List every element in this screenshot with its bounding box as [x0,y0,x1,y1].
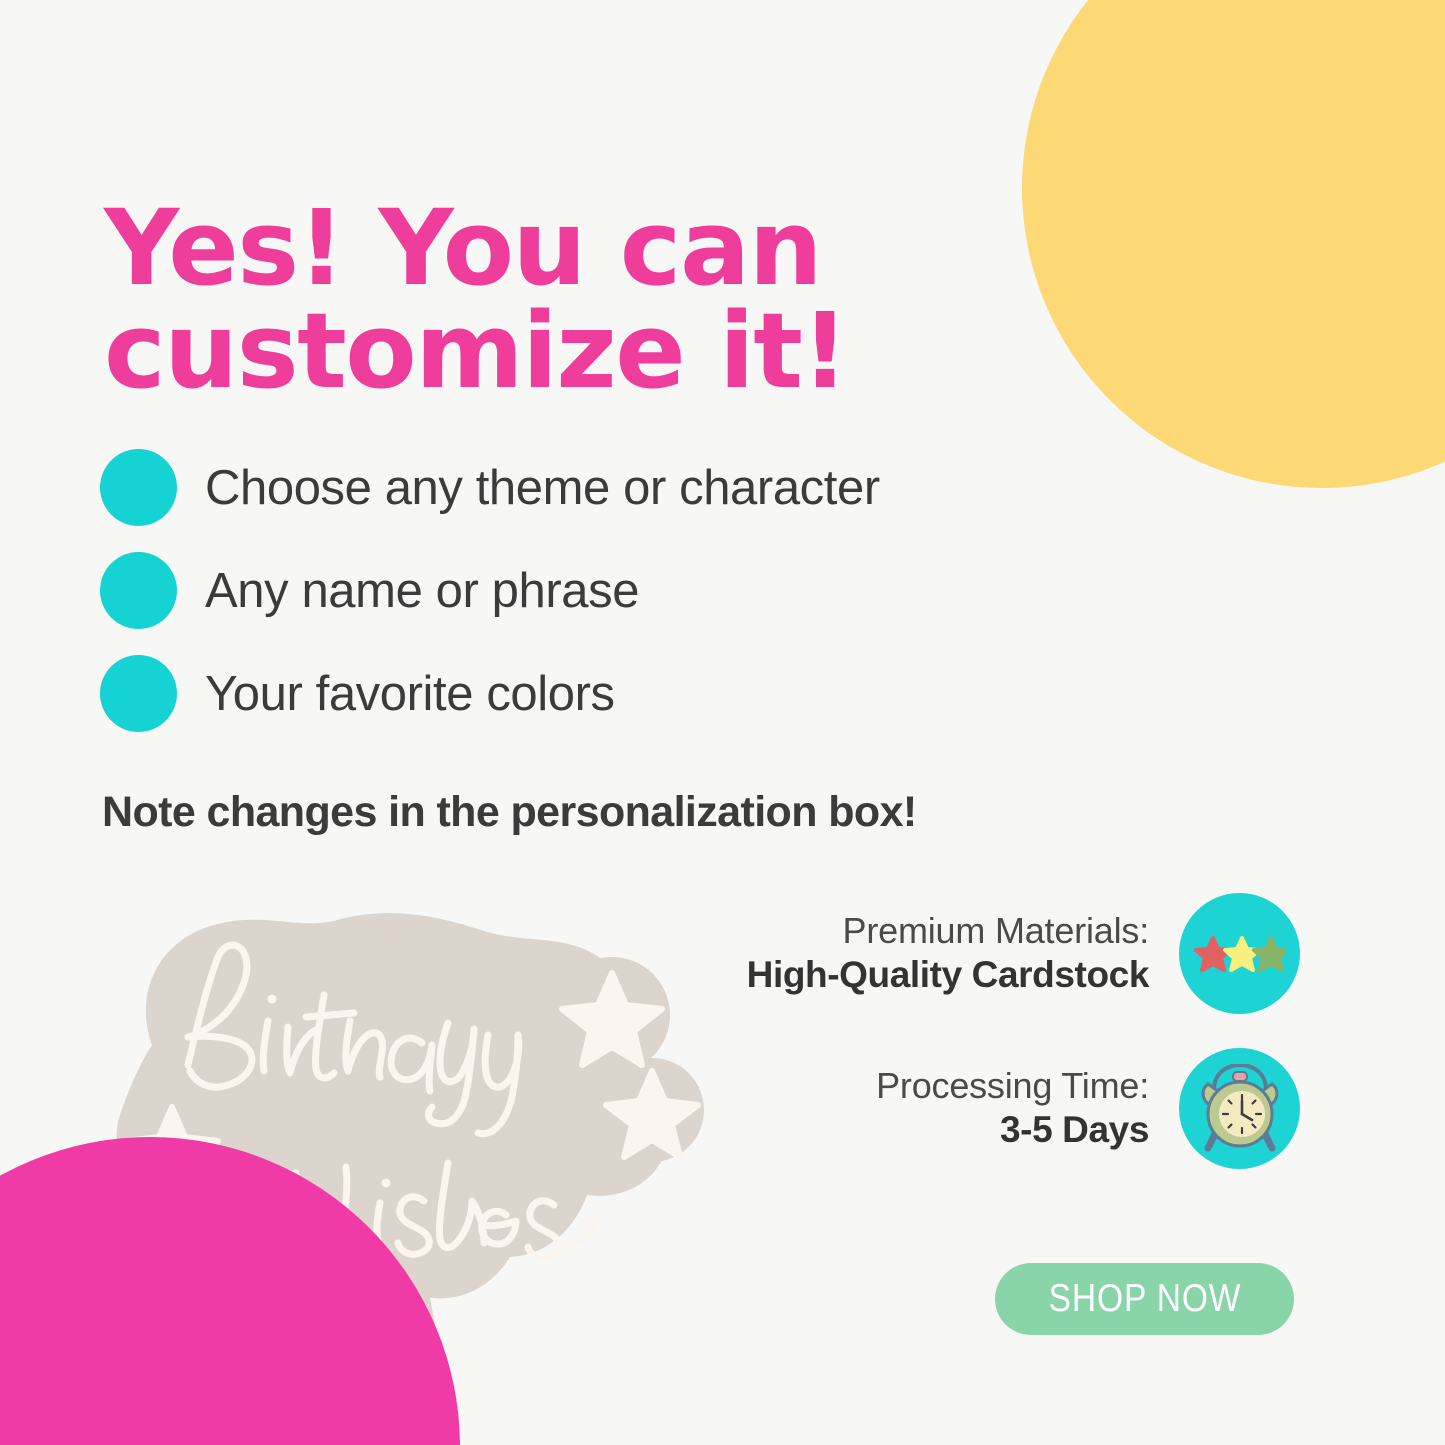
badge-text-block: Processing Time: 3-5 Days [876,1065,1149,1151]
badge-text-block: Premium Materials: High-Quality Cardstoc… [747,910,1149,996]
bullet-label: Your favorite colors [205,666,615,722]
badge-value: High-Quality Cardstock [747,953,1149,997]
feature-badge-list: Premium Materials: High-Quality Cardstoc… [747,893,1300,1203]
feature-bullet-list: Choose any theme or character Any name o… [100,436,880,745]
personalization-note: Note changes in the personalization box! [102,788,917,837]
list-item: Your favorite colors [100,642,880,745]
bullet-dot-icon [100,552,177,629]
bullet-label: Choose any theme or character [205,460,880,516]
headline-line-2: customize it! [104,300,934,403]
list-item: Any name or phrase [100,539,880,642]
bullet-dot-icon [100,449,177,526]
badge-processing-time: Processing Time: 3-5 Days [747,1048,1300,1169]
yellow-circle-decoration [1022,0,1445,488]
promo-graphic: Yes! You can customize it! Choose any th… [0,0,1445,1445]
badge-label: Premium Materials: [747,910,1149,952]
badge-value: 3-5 Days [876,1108,1149,1152]
bullet-dot-icon [100,655,177,732]
three-stars-icon [1179,893,1300,1014]
bullet-label: Any name or phrase [205,563,639,619]
shop-now-label: SHOP NOW [1048,1277,1241,1321]
alarm-clock-icon [1179,1048,1300,1169]
list-item: Choose any theme or character [100,436,880,539]
page-title: Yes! You can customize it! [104,197,934,403]
shop-now-button[interactable]: SHOP NOW [995,1263,1294,1335]
badge-label: Processing Time: [876,1065,1149,1107]
badge-premium-materials: Premium Materials: High-Quality Cardstoc… [747,893,1300,1014]
